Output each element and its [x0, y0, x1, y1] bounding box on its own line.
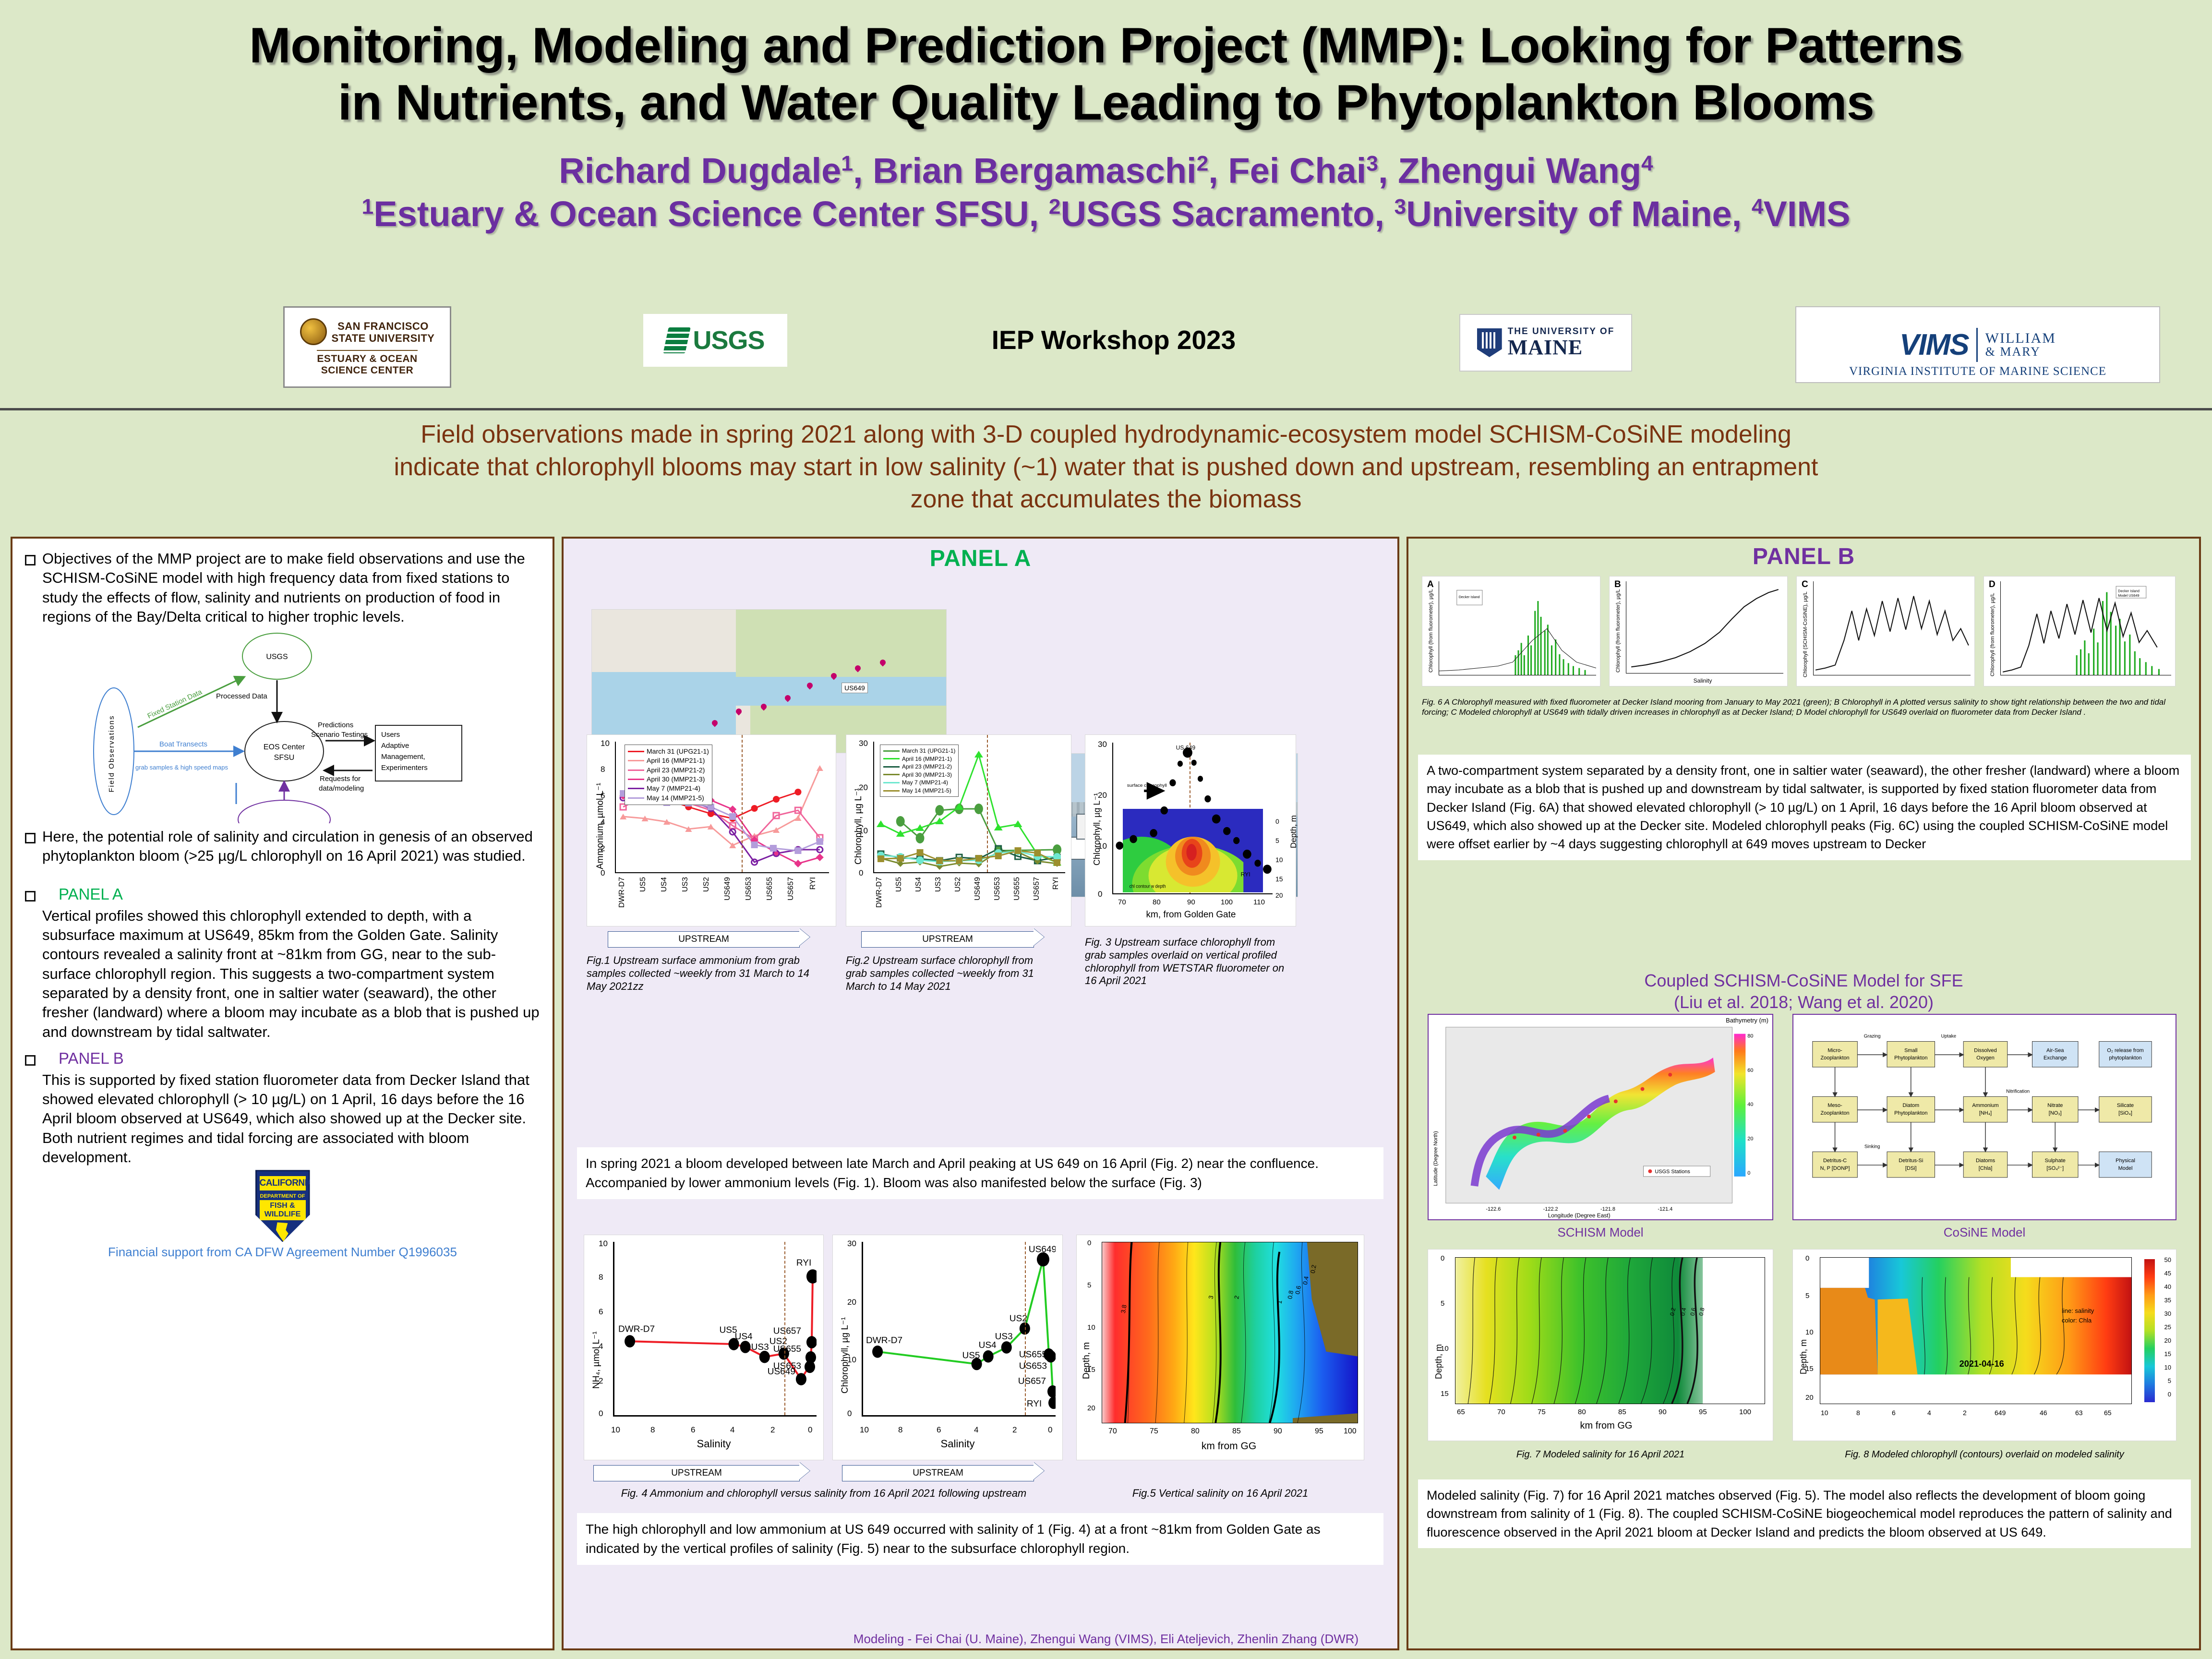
fig8-caption: Fig. 8 Modeled chlorophyll (contours) ov… — [1792, 1449, 2176, 1461]
vims-wordmark: VIMS — [1899, 328, 1978, 362]
legend-item: April 16 (MMP21-1) — [628, 756, 709, 765]
fig2-upstream-arrow: UPSTREAM — [861, 931, 1034, 948]
fig6b-series — [1626, 581, 1783, 673]
svg-text:Physical: Physical — [2116, 1158, 2135, 1164]
fig8-note-1: line: salinity — [2062, 1307, 2094, 1314]
fig6d-series: Decker Island Model US649 — [2001, 581, 2171, 675]
sfsu-seal-icon — [300, 318, 327, 345]
svg-text:20: 20 — [1747, 1136, 1753, 1142]
svg-text:Sulphate: Sulphate — [2045, 1158, 2066, 1164]
panel-a-column: PANEL A US649 Ammonium, µmol L⁻¹ — [562, 537, 1399, 1650]
svg-text:Diatom: Diatom — [1902, 1103, 1919, 1108]
vims-mary: & MARY — [1985, 346, 2056, 358]
sfsu-line-2: STATE UNIVERSITY — [332, 333, 435, 344]
fig6-caption: Fig. 6 A Chlorophyll measured with fixed… — [1422, 697, 2176, 718]
model-title-line-1: Coupled SCHISM-CoSiNE Model for SFE — [1408, 970, 2199, 991]
author-1: Richard Dugdale — [559, 151, 841, 191]
panel-a-bottom-text: The high chlorophyll and low ammonium at… — [577, 1513, 1383, 1565]
panel-a-header: PANEL A — [564, 539, 1397, 572]
fig7-xlabel: km from GG — [1455, 1420, 1757, 1431]
fig3-ylabel: Chlorophyll, µg L⁻¹ — [1092, 793, 1102, 866]
fig2-chart[interactable]: Chlorophyll, µg L⁻¹ — [846, 734, 1071, 926]
svg-text:Scenario Testings: Scenario Testings — [311, 731, 368, 739]
fig7-caption: Fig. 7 Modeled salinity for 16 April 202… — [1428, 1449, 1773, 1461]
fig6a-series: Decker Island — [1439, 581, 1596, 675]
maine-crest-icon — [1477, 328, 1502, 357]
maine-wordmark: MAINE — [1508, 337, 1615, 359]
author-3: , Fei Chai — [1208, 151, 1366, 191]
fig3-surface-series: US 649 RYI surface chlorophyll — [1113, 743, 1273, 893]
svg-text:SFSU: SFSU — [274, 754, 295, 762]
fig3-chart[interactable]: Chlorophyll, µg L⁻¹ chl co — [1085, 734, 1296, 926]
left-column: Objectives of the MMP project are to mak… — [11, 537, 554, 1650]
left-panel-b-label: PANEL B — [42, 1049, 124, 1068]
svg-text:Latitude (Degree North): Latitude (Degree North) — [1433, 1131, 1439, 1186]
fig6a-sublabel: A — [1427, 579, 1434, 590]
svg-text:[SiO₄]: [SiO₄] — [2118, 1110, 2132, 1116]
svg-text:Adaptive: Adaptive — [381, 742, 409, 750]
cosine-model-label: CoSiNE Model — [1792, 1225, 2176, 1240]
poster-header: Monitoring, Modeling and Prediction Proj… — [0, 0, 2212, 410]
svg-text:[DSi]: [DSi] — [1905, 1166, 1917, 1171]
svg-text:Nitrate: Nitrate — [2047, 1103, 2063, 1108]
sfsu-logo: SAN FRANCISCO STATE UNIVERSITY ESTUARY &… — [283, 306, 451, 388]
svg-text:US657: US657 — [773, 1326, 801, 1336]
svg-text:RYI: RYI — [1241, 871, 1250, 878]
svg-text:DWR-D7: DWR-D7 — [866, 1335, 902, 1346]
fig5-chart[interactable]: Depth, m — [1076, 1235, 1364, 1460]
svg-text:RYI: RYI — [796, 1258, 811, 1268]
svg-text:Experimenters: Experimenters — [381, 764, 428, 772]
author-4: , Zhengui Wang — [1378, 151, 1641, 191]
svg-text:Management,: Management, — [381, 753, 425, 761]
fig2-caption: Fig.2 Upstream surface chlorophyll from … — [846, 954, 1052, 993]
left-panel-a-text: Vertical profiles showed this chlorophyl… — [42, 906, 540, 1042]
fig6d-chart[interactable]: D Chlorophyll (from fluorometer), µg/L — [1984, 576, 2176, 686]
subtitle-line-1: Field observations made in spring 2021 a… — [0, 419, 2212, 451]
svg-text:Silicate: Silicate — [2117, 1103, 2134, 1108]
svg-text:Ammonium: Ammonium — [1972, 1103, 1998, 1108]
svg-text:phytoplankton: phytoplankton — [2109, 1055, 2141, 1061]
svg-text:-121.8: -121.8 — [1600, 1206, 1615, 1212]
fig8-note-2: color: Chla — [2062, 1317, 2092, 1324]
bullet-square-icon — [25, 1055, 36, 1066]
model-title: Coupled SCHISM-CoSiNE Model for SFE (Liu… — [1408, 970, 2199, 1013]
svg-text:DWR-D7: DWR-D7 — [618, 1324, 655, 1334]
vims-subtitle: VIRGINIA INSTITUTE OF MARINE SCIENCE — [1796, 365, 2159, 378]
affil-2-sup: 2 — [1049, 195, 1061, 219]
svg-text:RYI: RYI — [1027, 1399, 1042, 1409]
affil-3: University of Maine, — [1406, 194, 1752, 234]
fig3-caption: Fig. 3 Upstream surface chlorophyll from… — [1085, 936, 1286, 987]
svg-text:Dissolved: Dissolved — [1974, 1047, 1996, 1053]
left-panel-b-text: This is supported by fixed station fluor… — [42, 1070, 540, 1167]
fig7-chart[interactable]: Depth, m — [1428, 1249, 1773, 1441]
fig4-caption: Fig. 4 Ammonium and chlorophyll versus s… — [589, 1487, 1059, 1500]
subtitle-line-2: indicate that chlorophyll blooms may sta… — [0, 451, 2212, 484]
ca-dfw-logo: CALIFORNIA DEPARTMENT OF FISH & WILDLIFE — [255, 1170, 310, 1242]
cosine-diagram: Micro-Zooplankton SmallPhytoplankton Dis… — [1793, 1015, 2176, 1219]
svg-text:Exchange: Exchange — [2044, 1055, 2067, 1061]
svg-text:Model: Model — [2118, 1166, 2133, 1171]
svg-text:[NO₃]: [NO₃] — [2049, 1110, 2062, 1116]
bullet-square-icon — [25, 833, 36, 843]
fig3-xlabel: km, from Golden Gate — [1114, 910, 1268, 920]
fig4-left-series: DWR-D7US5US4 US3US2US649 US653US655US657… — [614, 1242, 817, 1415]
bullet-objectives-text: Objectives of the MMP project are to mak… — [42, 549, 540, 626]
svg-text:Phytoplankton: Phytoplankton — [1894, 1055, 1927, 1061]
bullet-here: Here, the potential role of salinity and… — [25, 827, 540, 866]
fig6b-chart[interactable]: B Chlorophyll (from fluorometer), µg/L S… — [1609, 576, 1788, 686]
bullet-here-text: Here, the potential role of salinity and… — [42, 827, 540, 866]
fig4-chlorophyll-chart[interactable]: Chlorophyll, µg L⁻¹ DWR-D7US5US4 US3US2U… — [832, 1235, 1063, 1460]
svg-text:Processed Data: Processed Data — [216, 692, 267, 700]
affiliation-line: 1Estuary & Ocean Science Center SFSU, 2U… — [0, 192, 2212, 236]
schism-grid: 806040 200 USGS Stations -122.6-122.2 -1… — [1429, 1015, 1772, 1219]
svg-text:[SO₄²⁻]: [SO₄²⁻] — [2046, 1166, 2064, 1171]
svg-text:Users: Users — [381, 731, 400, 739]
fig5-xlabel: km from GG — [1102, 1441, 1356, 1452]
svg-text:[Chla]: [Chla] — [1979, 1166, 1993, 1171]
fig6b-sublabel: B — [1614, 579, 1621, 590]
svg-text:US4: US4 — [979, 1340, 997, 1350]
svg-text:Air-Sea: Air-Sea — [2046, 1047, 2064, 1053]
panel-b-header: PANEL B — [1408, 539, 2199, 570]
svg-text:Zooplankton: Zooplankton — [1820, 1055, 1849, 1061]
fig6b-xlabel: Salinity — [1626, 677, 1779, 684]
svg-text:[NH₄]: [NH₄] — [1979, 1110, 1992, 1116]
maine-small-text: THE UNIVERSITY OF — [1508, 327, 1615, 337]
svg-text:60: 60 — [1747, 1068, 1753, 1073]
bullet-objectives: Objectives of the MMP project are to mak… — [25, 549, 540, 626]
svg-text:Grazing: Grazing — [1864, 1034, 1881, 1039]
affil-4: VIMS — [1764, 194, 1851, 234]
svg-text:US4: US4 — [735, 1332, 753, 1342]
fig4-xlabel-left: Salinity — [613, 1438, 815, 1450]
svg-text:USGS Stations: USGS Stations — [1655, 1169, 1690, 1175]
fig6d-ylabel: Chlorophyll (from fluorometer), µg/L — [1990, 593, 1996, 676]
svg-text:Diatoms: Diatoms — [1976, 1158, 1996, 1164]
study-area-map[interactable]: US649 — [591, 609, 947, 753]
svg-text:3.8: 3.8 — [1119, 1304, 1128, 1314]
dfw-fishwildlife-label: FISH & WILDLIFE — [260, 1200, 306, 1220]
vims-william: WILLIAM — [1985, 331, 2056, 346]
title-line-1: Monitoring, Modeling and Prediction Proj… — [0, 17, 2212, 74]
schism-model-figure[interactable]: Bathymetry (m) 806040 — [1428, 1014, 1773, 1220]
fig4-ammonium-chart[interactable]: NH₄, µmol L⁻¹ DWR-D7US5US4 US3US2US649 — [584, 1235, 824, 1460]
california-shape-icon — [275, 1222, 291, 1241]
sfsu-line-1: SAN FRANCISCO — [332, 321, 435, 332]
svg-text:Fixed Station Data: Fixed Station Data — [146, 688, 204, 721]
svg-text:Nitrification: Nitrification — [2006, 1089, 2030, 1094]
legend-item: April 16 (MMP21-1) — [883, 755, 955, 763]
schism-model-label: SCHISM Model — [1428, 1225, 1773, 1240]
fig6c-series — [1814, 581, 1971, 675]
bullet-square-icon — [25, 891, 36, 902]
legend-item: April 30 (MMP21-3) — [883, 771, 955, 779]
funding-text: Financial support from CA DFW Agreement … — [25, 1245, 540, 1260]
svg-text:Zooplankton: Zooplankton — [1820, 1110, 1849, 1116]
fig5-caption: Fig.5 Vertical salinity on 16 April 2021 — [1076, 1487, 1364, 1500]
usgs-mark-icon — [663, 327, 691, 353]
svg-text:-122.2: -122.2 — [1543, 1206, 1558, 1212]
schism-xlabel: Longitude (Degree East) — [1548, 1212, 1611, 1219]
sfsu-bottom-1: ESTUARY & OCEAN — [317, 353, 417, 365]
svg-text:0: 0 — [1747, 1170, 1750, 1176]
affil-1-sup: 1 — [362, 195, 374, 219]
title-line-2: in Nutrients, and Water Quality Leading … — [0, 74, 2212, 132]
svg-text:Boat Transects: Boat Transects — [159, 740, 207, 748]
svg-text:Meso-: Meso- — [1827, 1103, 1842, 1108]
svg-text:-121.4: -121.4 — [1658, 1206, 1672, 1212]
author-1-sup: 1 — [841, 152, 853, 175]
poster-subtitle: Field observations made in spring 2021 a… — [0, 412, 2212, 532]
fig1-upstream-arrow: UPSTREAM — [608, 931, 800, 948]
svg-text:Decker Island: Decker Island — [1459, 595, 1480, 599]
umaine-logo: THE UNIVERSITY OF MAINE — [1459, 314, 1632, 372]
svg-text:Detritus-C: Detritus-C — [1823, 1158, 1847, 1164]
author-3-sup: 3 — [1366, 152, 1378, 175]
svg-text:Phytoplankton: Phytoplankton — [1894, 1110, 1927, 1116]
panel-b-bottom-text: Modeled salinity (Fig. 7) for 16 April 2… — [1418, 1479, 2191, 1548]
bullet-panel-a: PANEL A — [25, 885, 540, 903]
svg-text:US657: US657 — [1018, 1376, 1046, 1386]
svg-text:US3: US3 — [995, 1332, 1013, 1342]
svg-text:EOS Center: EOS Center — [264, 743, 305, 751]
svg-text:Decker Island: Decker Island — [2118, 589, 2140, 593]
svg-text:surface chlorophyll: surface chlorophyll — [1127, 783, 1167, 788]
fig4-right-series: DWR-D7US5US4 US3US2US649 US655US653 US65… — [863, 1242, 1056, 1415]
author-2-sup: 2 — [1197, 152, 1209, 175]
sfsu-bottom-2: SCIENCE CENTER — [317, 365, 417, 376]
fig4-upstream-arrow-left: UPSTREAM — [593, 1465, 800, 1481]
svg-text:80: 80 — [1747, 1034, 1753, 1039]
author-2: , Brian Bergamaschi — [853, 151, 1197, 191]
fig4-upstream-arrow-right: UPSTREAM — [842, 1465, 1034, 1481]
dfw-department-label: DEPARTMENT OF — [260, 1193, 306, 1199]
svg-text:Field Observations: Field Observations — [108, 715, 116, 793]
fig6c-sublabel: C — [1802, 579, 1808, 590]
svg-text:-122.6: -122.6 — [1486, 1206, 1501, 1212]
svg-text:Requests for: Requests for — [320, 775, 361, 783]
model-title-line-2: (Liu et al. 2018; Wang et al. 2020) — [1408, 991, 2199, 1013]
svg-text:0.2: 0.2 — [1309, 1264, 1318, 1274]
legend-item: April 23 (MMP21-2) — [883, 763, 955, 771]
map-station-label: US649 — [842, 683, 868, 693]
fig5-salinity-contour: 3.8 3 2 1 0.8 0.6 0.4 0.2 — [1102, 1242, 1358, 1423]
event-title: IEP Workshop 2023 — [902, 325, 1325, 355]
fig3-y2label: Depth, m — [1289, 815, 1298, 848]
usgs-wordmark: USGS — [693, 325, 764, 355]
footer-credit: Modeling - Fei Chai (U. Maine), Zhengui … — [0, 1632, 2212, 1647]
author-4-sup: 4 — [1641, 152, 1653, 175]
fig6b-ylabel: Chlorophyll (from fluorometer), µg/L — [1615, 589, 1621, 673]
authors-line: Richard Dugdale1, Brian Bergamaschi2, Fe… — [0, 149, 2212, 192]
fig6a-ylabel: Chlorophyll (from fluorometer), µg/L — [1428, 589, 1434, 673]
svg-text:Uptake: Uptake — [1941, 1034, 1957, 1039]
svg-text:40: 40 — [1747, 1102, 1753, 1107]
svg-text:US653: US653 — [773, 1361, 801, 1371]
svg-text:Oxygen: Oxygen — [1976, 1055, 1995, 1061]
fig1-chart[interactable]: Ammonium, µmol L⁻¹ — [587, 734, 836, 926]
svg-text:Detritus-Si: Detritus-Si — [1899, 1158, 1923, 1164]
project-flow-diagram: USGS Field Observations EOS Center SFSU … — [25, 631, 540, 823]
left-panel-a-label: PANEL A — [42, 885, 123, 903]
logo-bar: SAN FRANCISCO STATE UNIVERSITY ESTUARY &… — [0, 302, 2212, 394]
author-block: Richard Dugdale1, Brian Bergamaschi2, Fe… — [0, 149, 2212, 236]
dfw-california-label: CALIFORNIA — [260, 1176, 306, 1190]
svg-text:Model US649: Model US649 — [2118, 593, 2139, 598]
fig6c-ylabel: Chlorophyll (SCHISM-CoSiNE), µg/L — [1803, 591, 1808, 677]
vims-logo: VIMS WILLIAM & MARY VIRGINIA INSTITUTE O… — [1795, 306, 2160, 383]
usgs-logo: USGS — [643, 314, 787, 367]
svg-text:Micro-: Micro- — [1827, 1047, 1842, 1053]
fig4-xlabel-right: Salinity — [862, 1438, 1054, 1450]
affil-1: Estuary & Ocean Science Center SFSU, — [373, 194, 1049, 234]
fig6a-chart[interactable]: A Chlorophyll (from fluorometer), µg/L — [1422, 576, 1600, 686]
svg-text:data/modeling: data/modeling — [319, 784, 364, 793]
svg-text:O₂ release from: O₂ release from — [2107, 1047, 2144, 1053]
svg-text:grab samples & high speed maps: grab samples & high speed maps — [135, 764, 228, 771]
svg-text:Small: Small — [1904, 1047, 1917, 1053]
fig6d-sublabel: D — [1989, 579, 1996, 590]
fig6c-chart[interactable]: C Chlorophyll (SCHISM-CoSiNE), µg/L — [1796, 576, 1975, 686]
svg-text:0.8: 0.8 — [1286, 1290, 1295, 1299]
fig7-salinity-contour: 0.2 0.4 0.6 0.8 — [1455, 1258, 1765, 1404]
fig8-chart[interactable]: Depth, m — [1792, 1249, 2176, 1441]
fig1-caption: Fig.1 Upstream surface ammonium from gra… — [587, 954, 812, 993]
affil-2: USGS Sacramento, — [1060, 194, 1394, 234]
bullet-panel-b: PANEL B — [25, 1049, 540, 1068]
page-title: Monitoring, Modeling and Prediction Proj… — [0, 0, 2212, 131]
poster-root: Monitoring, Modeling and Prediction Proj… — [0, 0, 2212, 1659]
panel-b-body-text: A two-compartment system separated by a … — [1418, 755, 2191, 860]
panel-a-mid-text: In spring 2021 a bloom developed between… — [577, 1147, 1383, 1199]
legend-item: April 30 (MMP21-3) — [628, 775, 709, 784]
subtitle-line-3: zone that accumulates the biomass — [0, 483, 2212, 516]
svg-text:Predictions: Predictions — [318, 721, 353, 729]
panel-b-column: PANEL B A Chlorophyll (from fluorometer)… — [1407, 537, 2201, 1650]
svg-text:N, P [DONP]: N, P [DONP] — [1820, 1166, 1850, 1171]
affil-4-sup: 4 — [1752, 195, 1764, 219]
svg-text:USGS: USGS — [266, 653, 288, 661]
affil-3-sup: 3 — [1395, 195, 1407, 219]
schism-bathy-legend-label: Bathymetry (m) — [1726, 1017, 1768, 1024]
cosine-model-figure[interactable]: Micro-Zooplankton SmallPhytoplankton Dis… — [1792, 1014, 2176, 1220]
bullet-square-icon — [25, 555, 36, 565]
svg-text:Sinking: Sinking — [1864, 1144, 1880, 1149]
